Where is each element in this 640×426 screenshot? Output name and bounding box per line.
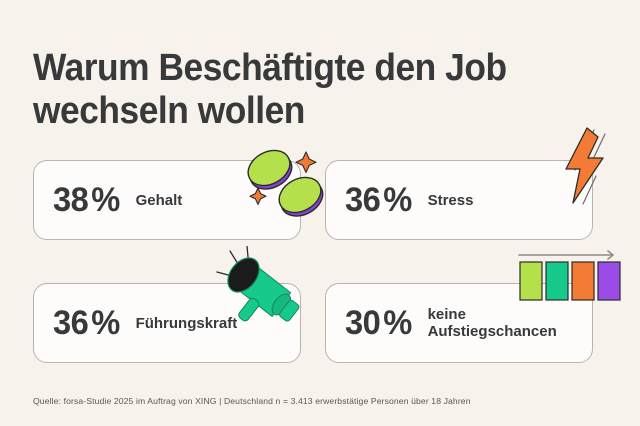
stat-card-stress[interactable]: 36% Stress: [325, 160, 593, 240]
stat-card-fuehrungskraft[interactable]: 36% Führungskraft: [33, 283, 301, 363]
source-note: Quelle: forsa-Studie 2025 im Auftrag von…: [33, 396, 471, 406]
stat-percent: 30%: [345, 306, 412, 340]
infographic-root: Warum Beschäftigte den Job wechseln woll…: [0, 0, 640, 426]
stat-label: keine Aufstiegschancen: [428, 306, 557, 340]
stat-card-aufstiegschancen[interactable]: 30% keine Aufstiegschancen: [325, 283, 593, 363]
stat-percent: 38%: [53, 183, 120, 217]
stat-label: Stress: [428, 192, 474, 209]
stat-label: Gehalt: [136, 192, 183, 209]
stat-card-grid: 38% Gehalt 36% Stress 36% Führungskraft …: [33, 160, 607, 360]
page-title: Warum Beschäftigte den Job wechseln woll…: [33, 47, 554, 133]
stat-card-gehalt[interactable]: 38% Gehalt: [33, 160, 301, 240]
stat-percent: 36%: [53, 306, 120, 340]
stat-percent: 36%: [345, 183, 412, 217]
stat-label: Führungskraft: [136, 315, 238, 332]
